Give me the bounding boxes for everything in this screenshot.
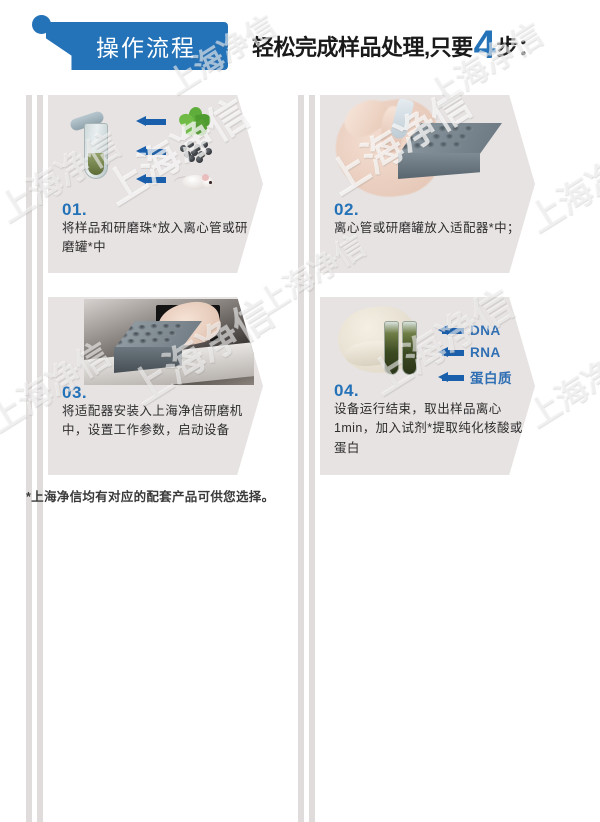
headline-step-count: 4 — [474, 29, 496, 61]
card-accent-bars-3 — [26, 297, 48, 822]
step-1-text: 将样品和研磨珠*放入离心管或研磨罐*中 — [62, 219, 252, 258]
operation-flow-infographic: 操作流程 轻松完成样品处理,只要 4 步： — [0, 0, 600, 525]
step-card-4: DNA RNA 蛋白质 04. 设备运行结束，取出样品离心1min，加入试剂*提… — [320, 297, 535, 475]
centrifuge-tube-icon — [84, 115, 108, 187]
step-4-text: 设备运行结束，取出样品离心1min，加入试剂*提取纯化核酸或蛋白 — [334, 400, 529, 458]
step-card-1: 01. 将样品和研磨珠*放入离心管或研磨罐*中 — [48, 95, 263, 273]
output-label-text: DNA — [470, 323, 501, 338]
arrow-icon-animal — [136, 175, 166, 184]
arrow-icon-protein — [438, 373, 464, 382]
headline-prefix: 轻松完成样品处理,只要 — [252, 30, 473, 62]
leaf-icon — [180, 107, 210, 135]
footnote: *上海净信均有对应的配套产品可供您选择。 — [26, 486, 274, 505]
step-4-number: 04. — [334, 381, 359, 401]
output-label-protein: 蛋白质 — [438, 367, 512, 387]
section-badge: 操作流程 — [40, 22, 230, 70]
output-label-text: 蛋白质 — [470, 367, 512, 387]
headline: 轻松完成样品处理,只要 4 步： — [252, 26, 539, 62]
output-label-rna: RNA — [438, 345, 501, 360]
adapter-block-icon — [114, 321, 202, 373]
arrow-icon-rna — [438, 348, 464, 357]
header: 操作流程 轻松完成样品处理,只要 4 步： — [0, 0, 600, 88]
sample-tubes-icon — [384, 321, 420, 379]
step-1-illustration — [58, 101, 248, 199]
adapter-block-icon — [398, 123, 502, 179]
grinding-beads-icon — [180, 141, 212, 161]
card-accent-bars-4 — [298, 297, 320, 822]
step-2-illustration — [336, 97, 522, 201]
step-2-text: 离心管或研磨罐放入适配器*中； — [334, 219, 524, 238]
mouse-icon — [178, 169, 214, 193]
output-label-dna: DNA — [438, 323, 501, 338]
badge-label: 操作流程 — [46, 22, 228, 70]
headline-suffix: 步： — [496, 30, 539, 62]
step-card-3: 03. 将适配器安装入上海净信研磨机中，设置工作参数，启动设备 — [48, 297, 263, 475]
step-4-illustration: DNA RNA 蛋白质 — [338, 301, 528, 395]
arrow-icon-dna — [438, 326, 464, 335]
step-3-number: 03. — [62, 383, 87, 403]
step-2-number: 02. — [334, 200, 359, 220]
step-3-text: 将适配器安装入上海净信研磨机中，设置工作参数，启动设备 — [62, 402, 252, 441]
output-label-text: RNA — [470, 345, 501, 360]
arrow-icon-beads — [136, 147, 166, 156]
arrow-icon-plant — [136, 117, 166, 126]
step-card-2: 02. 离心管或研磨罐放入适配器*中； — [320, 95, 535, 273]
step-1-number: 01. — [62, 200, 87, 220]
step-3-illustration — [84, 299, 254, 385]
